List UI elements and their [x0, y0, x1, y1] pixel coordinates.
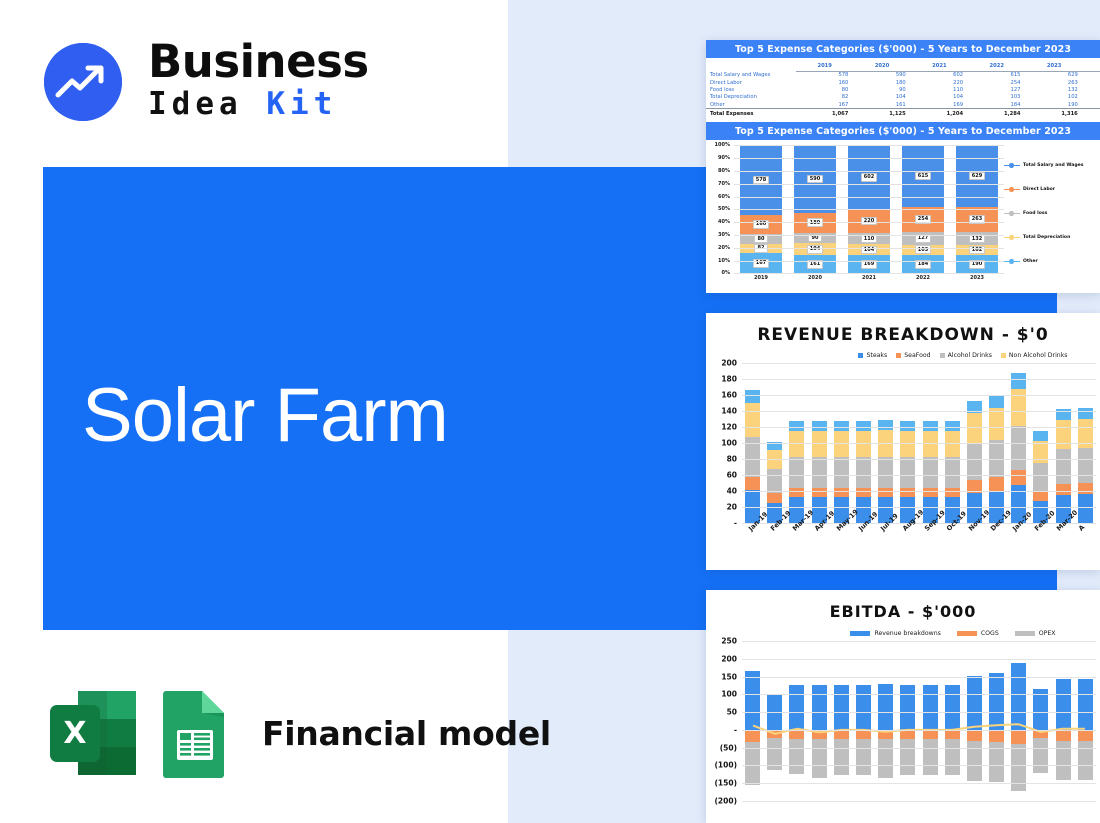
table-col-header: 2020	[853, 62, 910, 71]
revenue-chart-legend: SteaksSeaFoodAlcohol DrinksNon Alcohol D…	[706, 352, 1100, 359]
axis-tick-label: 30%	[718, 232, 730, 238]
chart-bar-column	[899, 641, 916, 801]
chart-bar-negative	[789, 730, 804, 774]
chart-bar-segment	[1078, 730, 1093, 741]
chart-bar-stack	[856, 421, 871, 523]
chart-bar-segment	[878, 739, 893, 777]
expense-chart-plot: 5781608082167590180901041616022201101041…	[734, 145, 1004, 273]
table-header-row: 20192020202120222023	[706, 62, 1100, 71]
ebitda-chart-legend: Revenue breakdownsCOGSOPEX	[706, 630, 1100, 637]
chart-bar-column	[1010, 641, 1027, 801]
gridline	[742, 677, 1096, 678]
axis-tick-label: 80%	[718, 168, 730, 174]
axis-tick-label: 40	[727, 487, 737, 496]
chart-bar-segment: 602	[848, 145, 890, 209]
legend-item: Revenue breakdowns	[850, 630, 940, 637]
expense-chart-x-axis: 20192020202120222023	[734, 275, 1004, 281]
axis-tick-label: 200	[721, 359, 737, 368]
chart-bar-column	[877, 641, 894, 801]
chart-bar-segment	[856, 421, 871, 431]
format-badges: X Financial model	[48, 688, 551, 778]
chart-bar-positive	[900, 685, 915, 730]
chart-bar-segment	[900, 457, 915, 488]
table-cell: 127	[968, 86, 1025, 93]
bar-value-label: 110	[861, 234, 878, 243]
chart-bar-segment	[900, 488, 915, 498]
legend-color-swatch	[940, 353, 945, 358]
chart-bar-segment	[745, 477, 760, 491]
chart-bar-segment	[745, 730, 760, 742]
chart-bar-stack	[1078, 408, 1093, 523]
chart-bar-segment	[967, 676, 982, 730]
gridline	[742, 411, 1096, 412]
bar-value-label: 184	[915, 260, 932, 269]
chart-bar-segment	[767, 493, 782, 503]
legend-color-swatch	[1004, 213, 1020, 215]
chart-bar-segment: 220	[848, 209, 890, 232]
axis-tick-label: 90%	[718, 155, 730, 161]
chart-bar-stack	[767, 442, 782, 523]
growth-chart-circle-icon	[44, 43, 122, 121]
chart-bar-segment	[1078, 679, 1093, 730]
axis-tick-label: 80	[727, 455, 737, 464]
table-cell: 102	[1025, 94, 1082, 101]
legend-label: Food loss	[1023, 211, 1047, 216]
ebitda-chart-title: EBITDA - $'000	[706, 590, 1100, 621]
chart-bar-segment	[745, 671, 760, 730]
chart-bar-segment	[812, 730, 827, 740]
axis-tick-label: (200)	[714, 797, 737, 806]
chart-bar-stack	[900, 421, 915, 523]
axis-tick-label: 160	[721, 391, 737, 400]
legend-label: Total Depreciation	[1023, 235, 1070, 240]
chart-bar-segment	[1033, 431, 1048, 441]
gridline	[742, 730, 1096, 731]
chart-bar-segment	[945, 421, 960, 431]
expense-categories-card: Top 5 Expense Categories ($'000) - 5 Yea…	[706, 40, 1100, 293]
chart-bar-segment	[923, 739, 938, 775]
legend-label: Steaks	[866, 352, 887, 359]
axis-tick-label: 2023	[956, 275, 998, 281]
chart-bar-segment	[878, 730, 893, 740]
legend-label: OPEX	[1039, 630, 1056, 637]
chart-bar-positive	[856, 685, 871, 730]
chart-bar-negative	[923, 730, 938, 775]
table-cell: 161	[853, 101, 910, 109]
axis-tick-label: 20	[727, 503, 737, 512]
chart-bar-positive	[789, 685, 804, 730]
table-cell: 82	[796, 94, 853, 101]
axis-tick-label: (50)	[720, 743, 737, 752]
chart-bar-segment	[967, 401, 982, 414]
chart-bar-segment	[856, 685, 871, 730]
chart-bar-segment: 254	[902, 207, 944, 232]
chart-bar-segment	[1056, 420, 1071, 449]
chart-bar-segment	[1078, 408, 1093, 419]
chart-bar-segment	[900, 431, 915, 457]
chart-bar-segment	[900, 685, 915, 730]
legend-color-swatch	[1004, 237, 1020, 239]
table-cell: 90	[853, 86, 910, 93]
chart-bar-column	[788, 641, 805, 801]
table-cell: 1,284	[968, 109, 1025, 117]
chart-bar-segment	[878, 684, 893, 730]
chart-bar-segment: 590	[794, 145, 836, 212]
bar-value-label: 82	[754, 244, 767, 253]
revenue-breakdown-card: REVENUE BREAKDOWN - $'0 SteaksSeaFoodAlc…	[706, 313, 1100, 570]
table-cell	[1083, 101, 1100, 109]
chart-bar-column	[855, 641, 872, 801]
chart-bar-segment	[1033, 738, 1048, 772]
chart-bar-segment	[856, 457, 871, 488]
table-cell: 180	[853, 79, 910, 86]
bar-value-label: 629	[969, 172, 986, 181]
expense-chart-y-axis: 0%10%20%30%40%50%60%70%80%90%100%	[706, 145, 732, 273]
ebitda-chart-plot	[742, 641, 1096, 801]
brand-idea-text: Idea	[148, 86, 266, 122]
chart-bar-column	[944, 641, 961, 801]
chart-bar-negative	[967, 730, 982, 781]
table-row: Total Salary and Wages578590602615629	[706, 71, 1100, 79]
table-cell: 578	[796, 71, 853, 79]
axis-tick-label: 250	[721, 637, 737, 646]
chart-bar-segment	[1056, 449, 1071, 484]
legend-label: Direct Labor	[1023, 187, 1055, 192]
bar-value-label: 220	[861, 217, 878, 226]
table-cell: 103	[968, 94, 1025, 101]
gridline	[742, 801, 1096, 802]
legend-color-swatch	[896, 353, 901, 358]
ebitda-chart-plot-area: (200)(150)(100)(50)-50100150200250	[706, 641, 1100, 823]
legend-label: Alcohol Drinks	[948, 352, 992, 359]
table-cell: Total Salary and Wages	[706, 71, 796, 79]
chart-bar-segment	[923, 685, 938, 730]
bar-value-label: 161	[807, 260, 824, 269]
axis-tick-label: 100%	[715, 142, 730, 148]
axis-tick-label: 20%	[718, 245, 730, 251]
page-title: Solar Farm	[82, 372, 448, 459]
chart-bar-segment	[945, 431, 960, 457]
legend-item: Direct Labor	[1004, 177, 1096, 201]
chart-bar-segment	[856, 739, 871, 775]
table-cell: 263	[1025, 79, 1082, 86]
chart-bar-segment: 190	[956, 255, 998, 273]
axis-tick-label: 50%	[718, 206, 730, 212]
chart-bar-negative	[1056, 730, 1071, 780]
table-cell: 167	[796, 101, 853, 109]
legend-item: Other	[1004, 249, 1096, 273]
table-col-header	[1083, 62, 1100, 71]
chart-bar-segment	[856, 730, 871, 740]
legend-color-swatch	[957, 631, 977, 636]
chart-bar-stack	[812, 421, 827, 523]
chart-bar-segment	[1056, 679, 1071, 730]
chart-bar-segment	[945, 730, 960, 740]
chart-bar-segment	[1056, 741, 1071, 780]
chart-bar-segment	[923, 488, 938, 498]
chart-bar-negative	[900, 730, 915, 775]
gridline	[742, 765, 1096, 766]
table-cell	[1083, 109, 1100, 117]
bar-value-label: 615	[915, 172, 932, 181]
legend-label: Revenue breakdowns	[874, 630, 940, 637]
axis-tick-label: 100	[721, 690, 737, 699]
gridline	[742, 748, 1096, 749]
table-cell: 615	[968, 71, 1025, 79]
table-cell: 160	[796, 79, 853, 86]
legend-color-swatch	[858, 353, 863, 358]
chart-bar-positive	[745, 671, 760, 730]
chart-bar-segment	[789, 457, 804, 488]
legend-color-swatch	[1001, 353, 1006, 358]
microsoft-excel-icon: X	[48, 688, 140, 778]
chart-bar-column	[966, 641, 983, 801]
table-cell: 1,125	[853, 109, 910, 117]
table-row: Total Depreciation82104104103102	[706, 94, 1100, 101]
table-cell: 220	[911, 79, 968, 86]
legend-color-swatch	[1004, 261, 1020, 263]
chart-bar-segment	[812, 421, 827, 431]
chart-bar-segment	[900, 421, 915, 431]
chart-bar-segment	[989, 730, 1004, 742]
chart-bar-stack	[1011, 373, 1026, 523]
chart-bar-segment	[923, 431, 938, 457]
chart-bar-segment	[767, 469, 782, 493]
gridline	[734, 273, 1004, 274]
chart-bar-positive	[1078, 679, 1093, 730]
axis-tick-label: 2019	[740, 275, 782, 281]
chart-bar-segment	[989, 408, 1004, 440]
gridline	[742, 427, 1096, 428]
brand-logo: Business Idea Kit	[44, 43, 344, 125]
axis-tick-label: 180	[721, 375, 737, 384]
revenue-chart-plot-area: -20406080100120140160180200 Jan-19Feb-19…	[706, 363, 1100, 563]
chart-bar-segment	[1011, 730, 1026, 744]
bar-value-label: 169	[861, 260, 878, 269]
chart-bar-positive	[923, 685, 938, 730]
legend-color-swatch	[1004, 165, 1020, 167]
expense-chart-title: Top 5 Expense Categories ($'000) - 5 Yea…	[706, 122, 1100, 140]
gridline	[734, 171, 1004, 172]
chart-bar-segment	[945, 457, 960, 488]
legend-item: Steaks	[858, 352, 887, 359]
chart-bar-segment: 629	[956, 145, 998, 206]
chart-bar-segment	[789, 730, 804, 740]
chart-bar-segment	[1011, 373, 1026, 388]
chart-bar-segment	[989, 396, 1004, 408]
revenue-chart-plot	[742, 363, 1096, 523]
revenue-chart-title: REVENUE BREAKDOWN - $'0	[706, 313, 1100, 345]
gridline	[734, 197, 1004, 198]
chart-bar-segment: 160	[740, 215, 782, 234]
chart-bar-segment	[923, 730, 938, 740]
legend-item: OPEX	[1015, 630, 1056, 637]
legend-item: Alcohol Drinks	[940, 352, 992, 359]
chart-bar-segment	[745, 742, 760, 784]
chart-bar-column	[1077, 641, 1094, 801]
axis-tick-label: 120	[721, 423, 737, 432]
chart-bar-segment	[789, 685, 804, 730]
ebitda-card: EBITDA - $'000 Revenue breakdownsCOGSOPE…	[706, 590, 1100, 823]
brand-name-line2: Idea Kit	[148, 87, 369, 121]
chart-bar-segment	[767, 730, 782, 738]
chart-bar-negative	[1078, 730, 1093, 780]
axis-tick-label: 70%	[718, 181, 730, 187]
table-total-row: Total Expenses1,0671,1251,2041,2841,316	[706, 109, 1100, 117]
chart-bar-stack	[878, 420, 893, 523]
chart-bar-negative	[834, 730, 849, 775]
gridline	[742, 712, 1096, 713]
chart-bar-segment	[1078, 419, 1093, 448]
chart-bar-positive	[1033, 689, 1048, 730]
chart-bar-negative	[1011, 730, 1026, 791]
chart-bar-segment	[967, 730, 982, 741]
format-label: Financial model	[262, 714, 551, 753]
legend-item: Total Salary and Wages	[1004, 153, 1096, 177]
legend-item: SeaFood	[896, 352, 930, 359]
chart-bar-segment	[1056, 730, 1071, 741]
legend-label: COGS	[981, 630, 999, 637]
revenue-chart-x-axis: Jan-19Feb-19Mar-19Apr-19May-19Jun-19Jul-…	[742, 527, 1096, 535]
chart-bar-segment	[834, 739, 849, 775]
chart-bar-segment	[945, 685, 960, 730]
table-cell: 190	[1025, 101, 1082, 109]
chart-bar-segment: 103	[902, 245, 944, 255]
chart-bar-segment	[834, 431, 849, 457]
chart-bar-positive	[812, 685, 827, 730]
chart-bar-segment: 169	[848, 255, 890, 273]
chart-bar-segment	[900, 730, 915, 740]
table-cell: 254	[968, 79, 1025, 86]
gridline	[734, 145, 1004, 146]
table-cell: Total Expenses	[706, 109, 796, 117]
chart-bar-positive	[1056, 679, 1071, 730]
legend-label: Other	[1023, 259, 1038, 264]
gridline	[742, 459, 1096, 460]
bar-value-label: 602	[861, 173, 878, 182]
table-cell: 104	[853, 94, 910, 101]
chart-bar-column	[766, 641, 783, 801]
chart-bar-column	[1055, 641, 1072, 801]
table-row: Food loss8090110127132	[706, 86, 1100, 93]
gridline	[742, 694, 1096, 695]
expense-stacked-chart: 0%10%20%30%40%50%60%70%80%90%100% 578160…	[706, 143, 1100, 291]
chart-bar-segment	[745, 390, 760, 403]
chart-bar-segment	[1078, 448, 1093, 483]
table-row: Other167161169184190	[706, 101, 1100, 109]
chart-bar-negative	[856, 730, 871, 775]
axis-tick-label: 200	[721, 654, 737, 663]
chart-bar-stack	[967, 401, 982, 523]
chart-bar-segment	[900, 739, 915, 775]
axis-tick-label: 150	[721, 672, 737, 681]
gridline	[742, 379, 1096, 380]
chart-bar-segment	[789, 431, 804, 457]
table-col-header: 2019	[796, 62, 853, 71]
chart-bar-segment	[812, 739, 827, 777]
chart-bar-segment	[834, 457, 849, 488]
chart-bar-positive	[878, 684, 893, 730]
chart-bar-segment: 180	[794, 213, 836, 233]
gridline	[742, 491, 1096, 492]
axis-tick-label: 40%	[718, 219, 730, 225]
gridline	[742, 443, 1096, 444]
chart-bar-segment	[989, 673, 1004, 730]
chart-bar-segment	[967, 413, 982, 443]
poster-canvas: Business Idea Kit Solar Farm X	[0, 0, 1100, 823]
chart-bar-segment: 104	[794, 243, 836, 255]
gridline	[734, 261, 1004, 262]
table-col-header: 2023	[1025, 62, 1082, 71]
gridline	[742, 363, 1096, 364]
chart-bar-segment: 102	[956, 245, 998, 255]
chart-bar-segment	[878, 457, 893, 488]
axis-tick-label: 2021	[848, 275, 890, 281]
ebitda-chart-bars	[742, 641, 1096, 801]
axis-tick-label: (100)	[714, 761, 737, 770]
chart-bar-segment	[945, 488, 960, 498]
chart-bar-segment: 615	[902, 145, 944, 206]
chart-bar-positive	[967, 676, 982, 730]
chart-bar-segment	[834, 488, 849, 498]
chart-bar-segment	[923, 457, 938, 488]
chart-bar-negative	[745, 730, 760, 785]
gridline	[742, 783, 1096, 784]
axis-tick-label: (150)	[714, 779, 737, 788]
chart-bar-segment: 184	[902, 255, 944, 273]
chart-bar-stack	[923, 421, 938, 523]
chart-bar-segment	[1078, 483, 1093, 494]
chart-bar-segment	[1033, 441, 1048, 463]
chart-bar-segment	[945, 739, 960, 775]
bar-value-label: 190	[969, 260, 986, 269]
legend-item: Total Depreciation	[1004, 225, 1096, 249]
axis-tick-label: -	[734, 725, 737, 734]
table-cell: Other	[706, 101, 796, 109]
chart-bar-positive	[834, 685, 849, 730]
chart-bar-negative	[989, 730, 1004, 782]
table-cell: 629	[1025, 71, 1082, 79]
table-col-header: 2022	[968, 62, 1025, 71]
chart-bar-column	[988, 641, 1005, 801]
chart-bar-stack	[945, 421, 960, 523]
brand-name-line1: Business	[148, 39, 369, 85]
chart-bar-positive	[1011, 663, 1026, 729]
chart-bar-segment	[1056, 484, 1071, 495]
table-cell	[1083, 71, 1100, 79]
table-cell: 1,204	[911, 109, 968, 117]
chart-bar-segment	[1033, 689, 1048, 730]
chart-bar-segment	[834, 730, 849, 740]
google-sheets-icon	[160, 688, 230, 778]
table-cell: Total Depreciation	[706, 94, 796, 101]
bar-value-label: 132	[969, 234, 986, 243]
gridline	[734, 222, 1004, 223]
revenue-chart-y-axis: -20406080100120140160180200	[706, 363, 740, 523]
legend-item: Food loss	[1004, 201, 1096, 225]
chart-bar-segment	[789, 739, 804, 773]
legend-color-swatch	[1004, 189, 1020, 191]
chart-bar-negative	[945, 730, 960, 775]
chart-bar-column	[811, 641, 828, 801]
table-cell: 602	[911, 71, 968, 79]
chart-bar-stack	[789, 421, 804, 523]
gridline	[734, 158, 1004, 159]
chart-bar-positive	[989, 673, 1004, 730]
bar-value-label: 104	[807, 245, 824, 254]
gridline	[742, 475, 1096, 476]
chart-bar-segment	[856, 431, 871, 457]
